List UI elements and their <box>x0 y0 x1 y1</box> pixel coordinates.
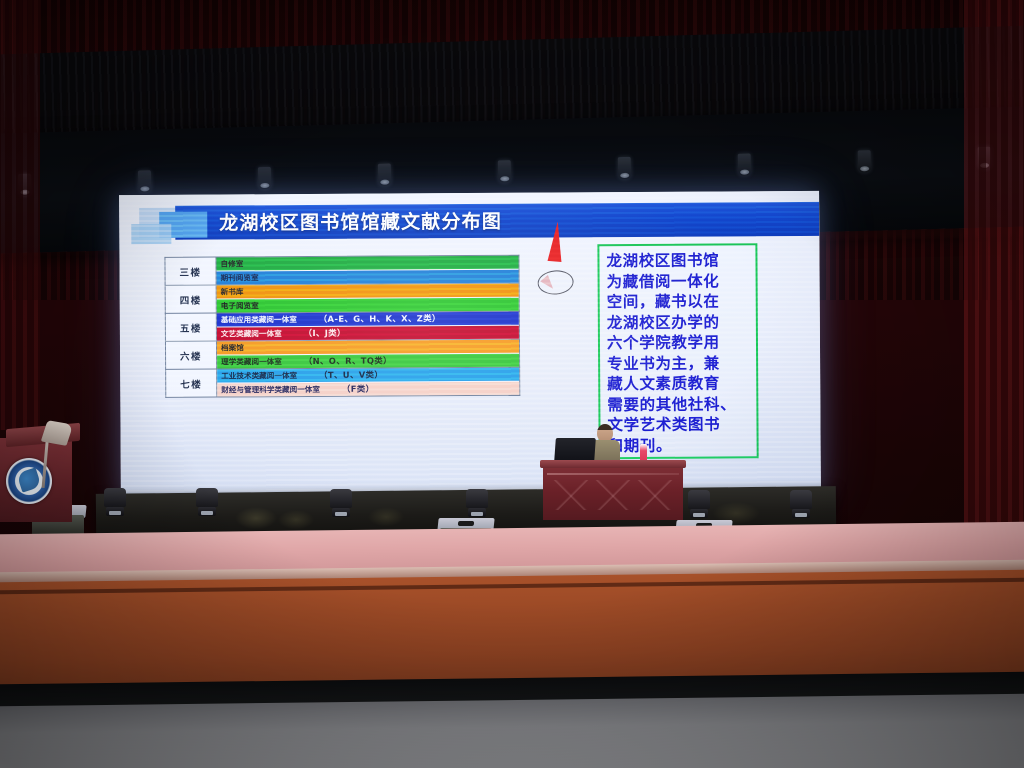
light-yoke <box>688 490 710 509</box>
light-yoke <box>790 490 812 509</box>
moving-head-light <box>330 489 352 519</box>
auditorium-scene: 龙湖校区图书馆馆藏文献分布图 三楼自修室期刊阅览室四楼新书库电子阅览室五楼基础应… <box>0 0 1024 768</box>
room-bar: 新书库 <box>217 284 519 299</box>
room-name: 理学类藏阅一体室 <box>221 357 282 366</box>
ceiling-light-icon <box>858 150 872 172</box>
auditorium-floor <box>0 693 1024 768</box>
note-line: 空间，藏书以在 <box>607 291 749 312</box>
light-lens <box>693 513 705 517</box>
left-side-curtain <box>0 0 40 430</box>
light-lens <box>471 512 483 516</box>
room-bar: 工业技术类藏阅一体室（T、U、V类） <box>217 368 519 383</box>
floor-label-cell: 五楼 <box>165 313 216 341</box>
ceiling-light-icon <box>138 170 152 192</box>
table-row: 四楼新书库电子阅览室 <box>165 283 519 313</box>
room-name: 新书库 <box>221 287 244 296</box>
right-side-curtain <box>964 0 1024 590</box>
presentation-slide: 龙湖校区图书馆馆藏文献分布图 三楼自修室期刊阅览室四楼新书库电子阅览室五楼基础应… <box>119 191 821 502</box>
moving-head-light <box>688 490 710 520</box>
table-row: 七楼工业技术类藏阅一体室（T、U、V类）财经与管理科学类藏阅一体室（F类） <box>166 367 520 397</box>
slide-title: 龙湖校区图书馆馆藏文献分布图 <box>219 207 502 239</box>
note-line: 专业书为主，兼 <box>607 353 749 374</box>
room-name: 期刊阅览室 <box>221 273 259 282</box>
monitor-handle-slot <box>458 521 475 526</box>
floor-rooms-cell: 自修室期刊阅览室 <box>216 255 519 285</box>
ceiling-light-icon <box>738 153 752 175</box>
room-bar: 文艺类藏阅一体室（I、J类） <box>217 326 519 341</box>
room-name: 电子阅览室 <box>221 301 259 310</box>
room-name: 档案馆 <box>221 343 244 352</box>
room-bar: 财经与管理科学类藏阅一体室（F类） <box>217 382 519 397</box>
left-lectern <box>0 426 82 524</box>
projection-screen: 龙湖校区图书馆馆藏文献分布图 三楼自修室期刊阅览室四楼新书库电子阅览室五楼基础应… <box>119 191 821 502</box>
room-bar: 理学类藏阅一体室（N、O、R、TQ类） <box>217 354 519 369</box>
table-row: 三楼自修室期刊阅览室 <box>165 255 519 285</box>
moving-head-light <box>104 488 126 518</box>
room-category: （N、O、R、TQ类） <box>304 355 392 366</box>
light-yoke <box>466 489 488 508</box>
note-line: 需要的其他社科、 <box>607 394 749 415</box>
compass-needle <box>548 221 565 262</box>
ceiling-light-icon <box>498 160 512 182</box>
note-line: 藏人文素质教育 <box>607 373 749 394</box>
floor-label-cell: 三楼 <box>165 257 216 285</box>
moving-head-light <box>196 488 218 518</box>
room-name: 工业技术类藏阅一体室 <box>221 371 297 380</box>
floor-label-cell: 六楼 <box>165 341 216 369</box>
floor-rooms-cell: 工业技术类藏阅一体室（T、U、V类）财经与管理科学类藏阅一体室（F类） <box>217 367 520 397</box>
light-lens <box>335 512 347 516</box>
moving-head-light <box>790 490 812 520</box>
center-podium <box>540 460 686 520</box>
ceiling-light-icon <box>618 157 632 179</box>
light-lens <box>109 511 121 515</box>
room-name: 财经与管理科学类藏阅一体室 <box>221 385 320 395</box>
room-category: （F类） <box>342 384 375 394</box>
room-bar: 基础应用类藏阅一体室（A-E、G、H、K、X、Z类） <box>217 312 519 327</box>
laptop-lid <box>554 438 596 462</box>
room-category: （A-E、G、H、K、X、Z类） <box>319 313 441 324</box>
table-row: 五楼基础应用类藏阅一体室（A-E、G、H、K、X、Z类）文艺类藏阅一体室（I、J… <box>165 311 519 341</box>
light-yoke <box>196 488 218 507</box>
room-bar: 自修室 <box>216 256 518 271</box>
room-category: （T、U、V类） <box>319 370 383 380</box>
note-line: 文学艺术类图书 <box>607 414 749 435</box>
floor-rooms-cell: 档案馆理学类藏阅一体室（N、O、R、TQ类） <box>216 339 519 369</box>
room-name: 文艺类藏阅一体室 <box>221 329 282 338</box>
room-bar: 电子阅览室 <box>217 298 519 313</box>
room-name: 自修室 <box>220 259 243 268</box>
floor-rooms-cell: 新书库电子阅览室 <box>216 283 519 313</box>
room-bar: 档案馆 <box>217 340 519 355</box>
ceiling-light-icon <box>258 167 272 189</box>
floor-distribution-table: 三楼自修室期刊阅览室四楼新书库电子阅览室五楼基础应用类藏阅一体室（A-E、G、H… <box>164 255 520 398</box>
room-name: 基础应用类藏阅一体室 <box>221 315 297 324</box>
note-line: 龙湖校区办学的 <box>607 312 749 333</box>
light-lens <box>201 511 213 515</box>
light-yoke <box>330 489 352 508</box>
table-row: 六楼档案馆理学类藏阅一体室（N、O、R、TQ类） <box>165 339 519 369</box>
moving-head-light <box>466 489 488 519</box>
slide-title-bar: 龙湖校区图书馆馆藏文献分布图 <box>119 202 819 242</box>
room-category: （I、J类） <box>304 328 346 338</box>
floor-label-cell: 七楼 <box>166 369 217 397</box>
floor-rooms-cell: 基础应用类藏阅一体室（A-E、G、H、K、X、Z类）文艺类藏阅一体室（I、J类） <box>216 311 519 341</box>
floor-label-cell: 四楼 <box>165 285 216 313</box>
ceiling-light-icon <box>378 163 392 185</box>
podium-rail <box>547 473 679 475</box>
note-line: 龙湖校区图书馆 <box>606 250 748 271</box>
light-lens <box>795 513 807 517</box>
compass-north-arrow-icon: N <box>534 254 576 302</box>
note-line: 六个学院教学用 <box>607 332 749 353</box>
note-line: 为藏借阅一体化 <box>607 271 749 292</box>
podium-diamond-panel <box>550 480 676 510</box>
room-bar: 期刊阅览室 <box>217 270 519 285</box>
note-line: 和期刊。 <box>608 435 750 456</box>
light-yoke <box>104 488 126 507</box>
podium-ledge <box>540 460 686 468</box>
title-accent-block-3 <box>131 224 171 244</box>
